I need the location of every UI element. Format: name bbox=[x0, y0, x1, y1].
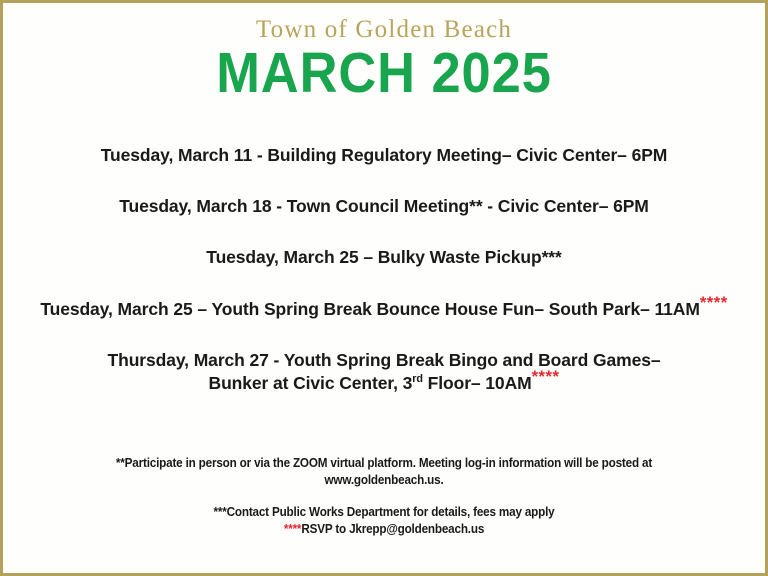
event-item: Thursday, March 27 - Youth Spring Break … bbox=[3, 349, 765, 395]
flyer-page: Town of Golden Beach MARCH 2025 Tuesday,… bbox=[0, 0, 768, 576]
footnote-rsvp-asterisks: **** bbox=[284, 522, 301, 536]
flyer-header: Town of Golden Beach MARCH 2025 bbox=[3, 3, 765, 102]
event-text: Tuesday, March 18 - Town Council Meeting… bbox=[119, 196, 649, 216]
ordinal-suffix: rd bbox=[412, 373, 423, 385]
event-text: Tuesday, March 25 – Youth Spring Break B… bbox=[40, 299, 700, 319]
event-text: Tuesday, March 25 – Bulky Waste Pickup**… bbox=[206, 247, 561, 267]
month-year-title: MARCH 2025 bbox=[33, 45, 734, 102]
event-text: Tuesday, March 11 - Building Regulatory … bbox=[101, 145, 668, 165]
event-item: Tuesday, March 25 – Bulky Waste Pickup**… bbox=[3, 246, 765, 269]
event-list: Tuesday, March 11 - Building Regulatory … bbox=[3, 144, 765, 395]
footnote-marker-asterisks: **** bbox=[700, 293, 728, 312]
footnote-zoom-line1: **Participate in person or via the ZOOM … bbox=[116, 456, 652, 470]
footnote-zoom: **Participate in person or via the ZOOM … bbox=[30, 455, 739, 489]
footnote-public-works-text: ***Contact Public Works Department for d… bbox=[213, 505, 554, 519]
footnote-rsvp: ****RSVP to Jkrepp@goldenbeach.us bbox=[30, 521, 739, 538]
footnote-zoom-line2: www.goldenbeach.us. bbox=[324, 473, 443, 487]
footnote-marker-asterisks: **** bbox=[532, 367, 560, 386]
event-item: Tuesday, March 25 – Youth Spring Break B… bbox=[3, 298, 765, 321]
footnote-rsvp-text: RSVP to Jkrepp@goldenbeach.us bbox=[301, 522, 484, 536]
event-item: Tuesday, March 11 - Building Regulatory … bbox=[3, 144, 765, 167]
footnote-public-works: ***Contact Public Works Department for d… bbox=[30, 504, 739, 521]
event-item: Tuesday, March 18 - Town Council Meeting… bbox=[3, 195, 765, 218]
footnote-section: **Participate in person or via the ZOOM … bbox=[3, 455, 765, 538]
event-location-suffix: Floor– 10AM bbox=[423, 373, 532, 393]
event-text: Thursday, March 27 - Youth Spring Break … bbox=[108, 350, 661, 370]
event-second-line: Bunker at Civic Center, 3rd Floor– 10AM*… bbox=[13, 372, 755, 395]
event-location-prefix: Bunker at Civic Center, 3 bbox=[209, 373, 413, 393]
town-name-title: Town of Golden Beach bbox=[3, 17, 765, 43]
